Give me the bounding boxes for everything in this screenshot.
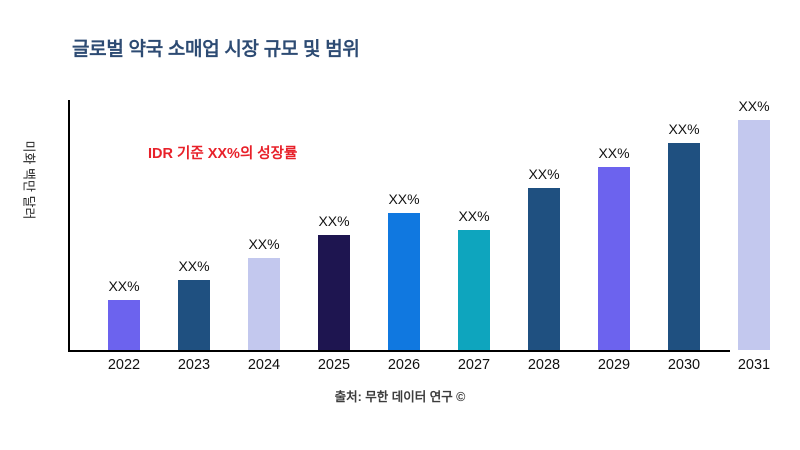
bar-2024[interactable]: XX% bbox=[248, 258, 280, 350]
x-tick-2027: 2027 bbox=[439, 357, 509, 373]
bar-2026[interactable]: XX% bbox=[388, 213, 420, 350]
bar-value-label-2027: XX% bbox=[458, 208, 489, 224]
x-tick-2026: 2026 bbox=[369, 357, 439, 373]
bar-2029[interactable]: XX% bbox=[598, 167, 630, 350]
bar-value-label-2029: XX% bbox=[598, 145, 629, 161]
bar-2028[interactable]: XX% bbox=[528, 188, 560, 350]
bar-value-label-2028: XX% bbox=[528, 166, 559, 182]
bar-2025[interactable]: XX% bbox=[318, 235, 350, 350]
bar-value-label-2023: XX% bbox=[178, 258, 209, 274]
bar-value-label-2026: XX% bbox=[388, 191, 419, 207]
x-tick-2029: 2029 bbox=[579, 357, 649, 373]
bar-2022[interactable]: XX% bbox=[108, 300, 140, 350]
bar-value-label-2025: XX% bbox=[318, 213, 349, 229]
x-tick-2030: 2030 bbox=[649, 357, 719, 373]
bar-2023[interactable]: XX% bbox=[178, 280, 210, 350]
x-tick-2023: 2023 bbox=[159, 357, 229, 373]
chart-container: 글로벌 약국 소매업 시장 규모 및 범위 미화 백만 달러 XX%XX%XX%… bbox=[0, 0, 800, 450]
plot-area: XX%XX%XX%XX%XX%XX%XX%XX%XX%XX% 202220232… bbox=[0, 0, 800, 450]
y-axis-line bbox=[68, 100, 70, 351]
x-tick-2028: 2028 bbox=[509, 357, 579, 373]
x-tick-2031: 2031 bbox=[719, 357, 789, 373]
x-tick-2022: 2022 bbox=[89, 357, 159, 373]
bar-2031[interactable]: XX% bbox=[738, 120, 770, 350]
growth-rate-annotation: IDR 기준 XX%의 성장률 bbox=[148, 142, 297, 163]
bar-value-label-2024: XX% bbox=[248, 236, 279, 252]
x-tick-2024: 2024 bbox=[229, 357, 299, 373]
bar-value-label-2030: XX% bbox=[668, 121, 699, 137]
bar-value-label-2031: XX% bbox=[738, 98, 769, 114]
bar-value-label-2022: XX% bbox=[108, 278, 139, 294]
bar-2030[interactable]: XX% bbox=[668, 143, 700, 350]
x-axis-line bbox=[68, 350, 730, 352]
source-caption: 출처: 무한 데이터 연구 © bbox=[0, 386, 800, 405]
x-tick-2025: 2025 bbox=[299, 357, 369, 373]
bar-2027[interactable]: XX% bbox=[458, 230, 490, 350]
